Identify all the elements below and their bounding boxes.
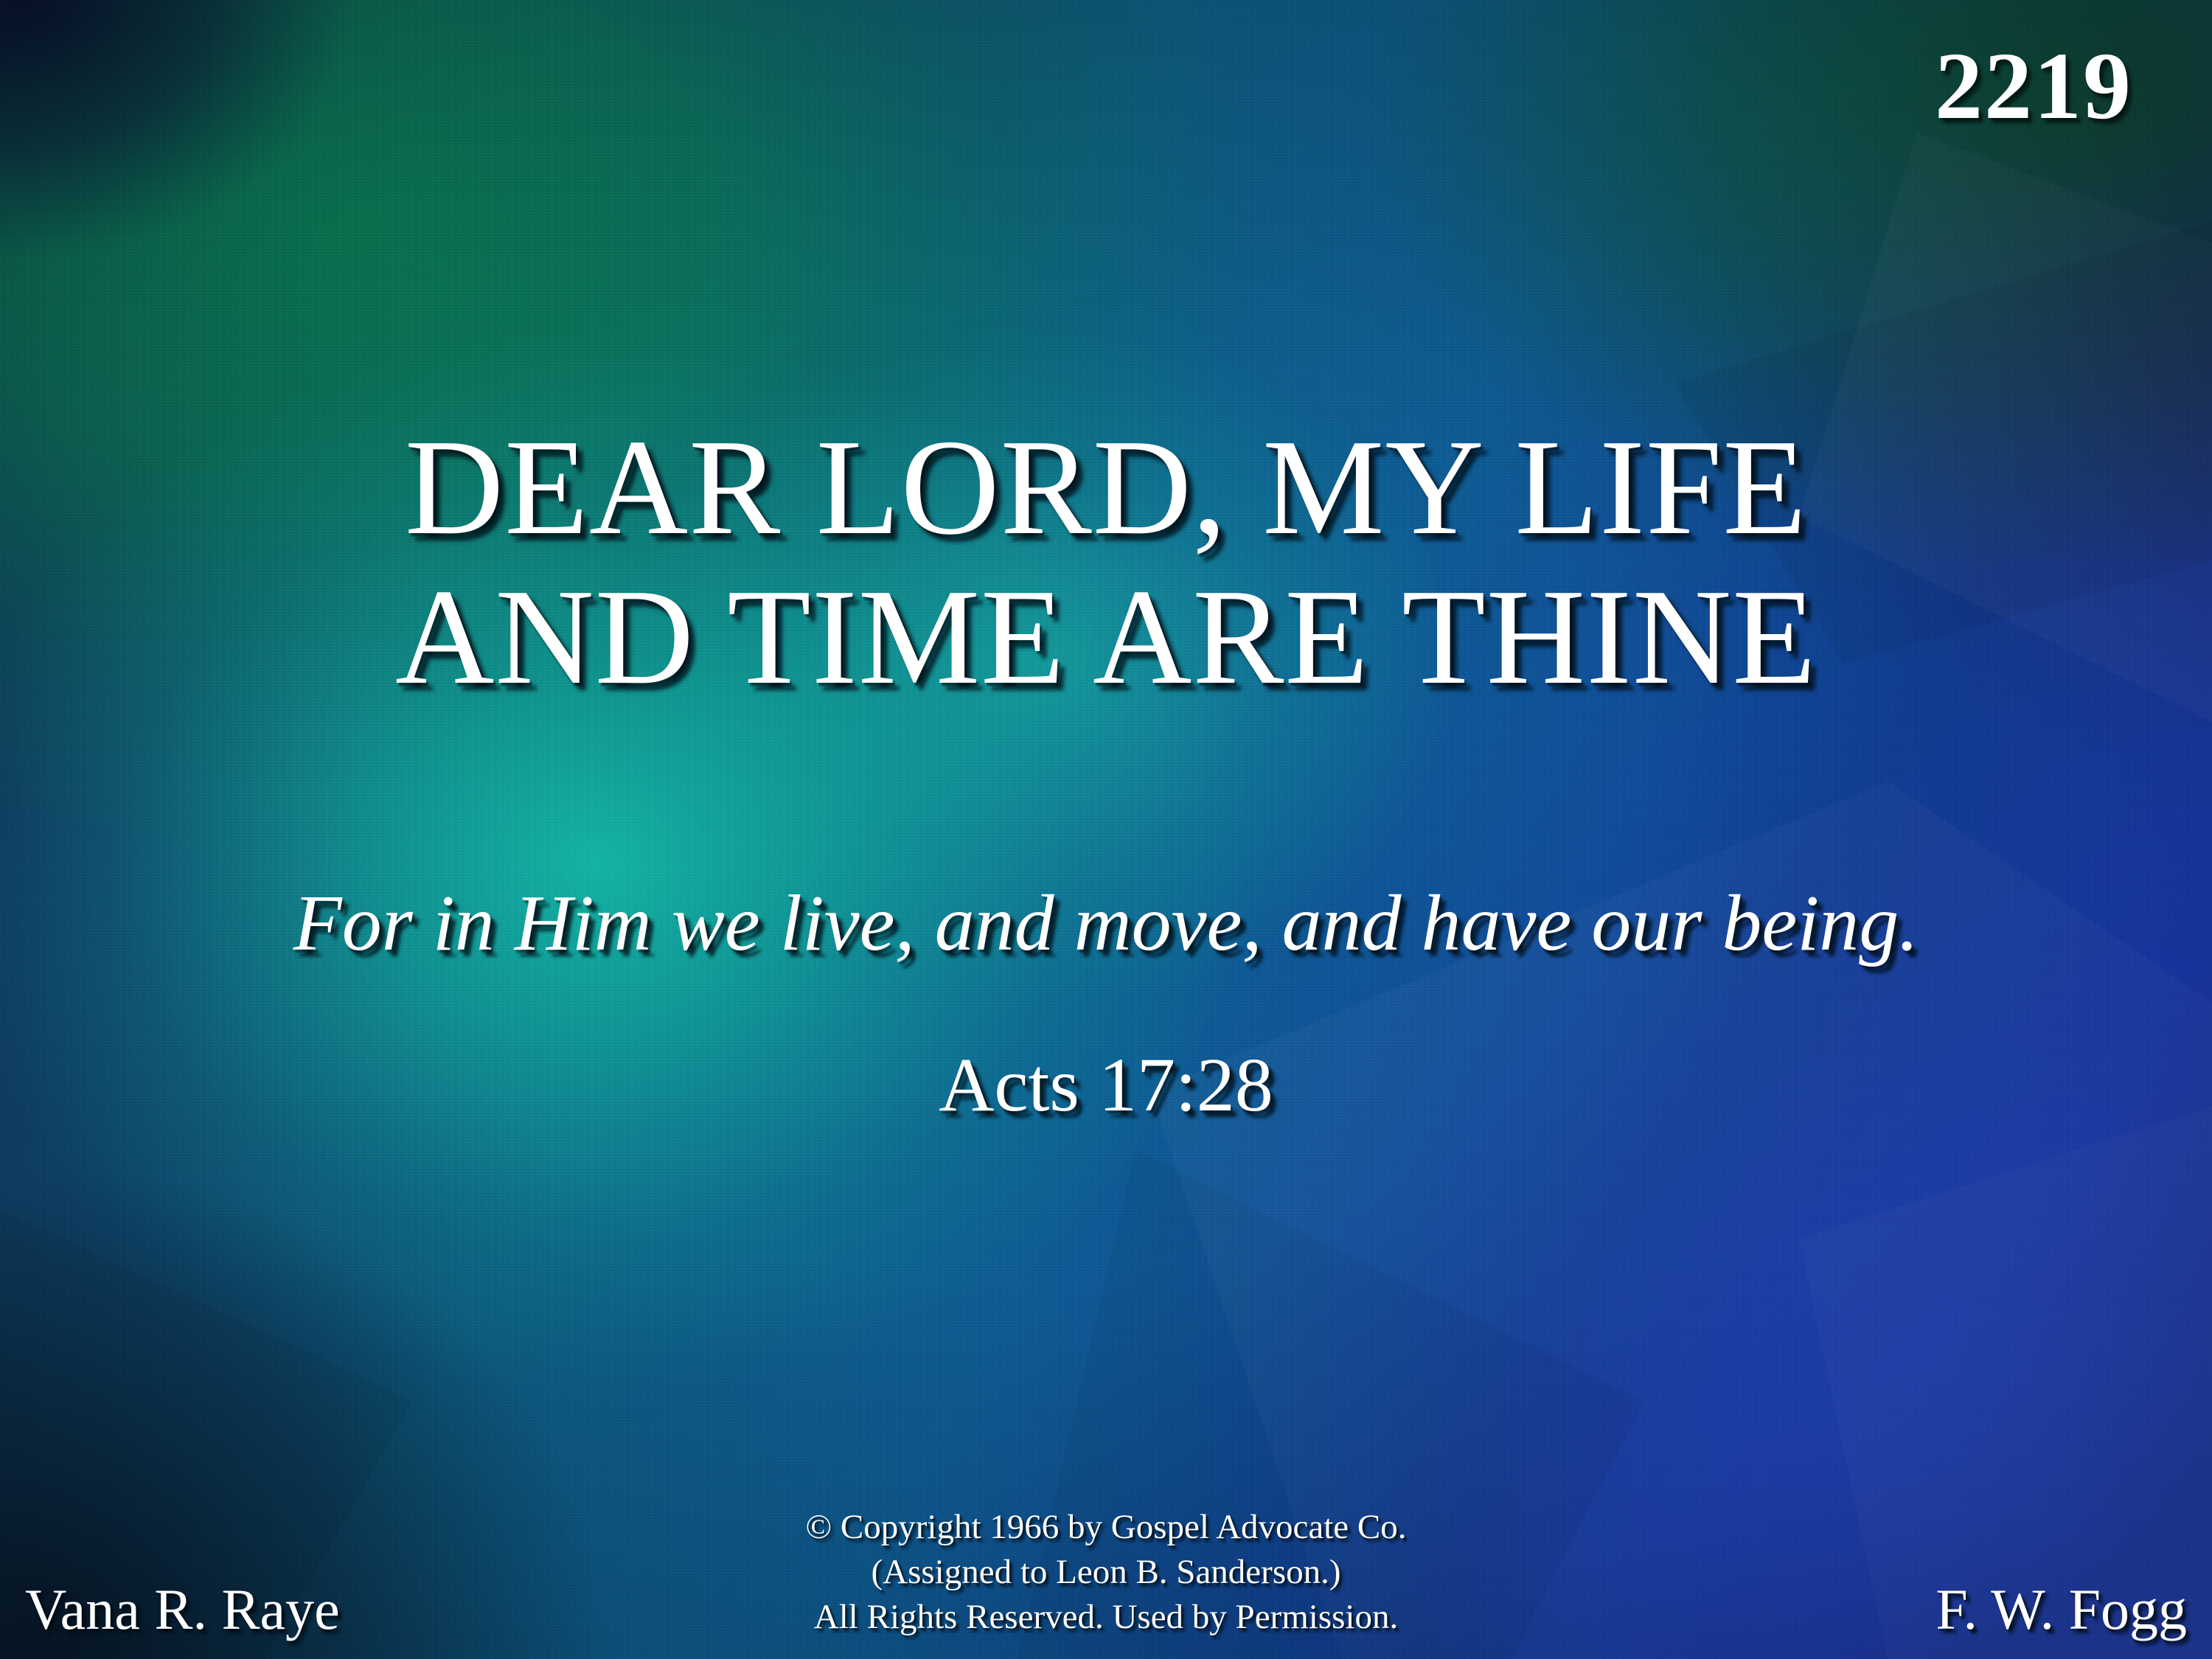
background-vignette <box>0 0 2212 1659</box>
composer-credit: F. W. Fogg <box>1935 1581 2187 1638</box>
slide-number: 2219 <box>1935 38 2132 134</box>
hymn-slide: 2219 DEAR LORD, MY LIFE AND TIME ARE THI… <box>0 0 2212 1659</box>
song-title-line-2: AND TIME ARE THINE <box>0 563 2212 712</box>
scripture-verse: For in Him we live, and move, and have o… <box>0 880 2212 968</box>
background-polygon-facets <box>0 0 2212 1659</box>
background-fibre-weave <box>0 0 2212 1659</box>
polygon-facets-svg <box>0 0 2212 1659</box>
background-green-glow <box>0 0 2212 1659</box>
song-title: DEAR LORD, MY LIFE AND TIME ARE THINE <box>0 413 2212 712</box>
background-teal-glow <box>0 0 2212 1659</box>
copyright-line-1: © Copyright 1966 by Gospel Advocate Co. <box>0 1505 2212 1550</box>
scripture-reference: Acts 17:28 <box>0 1043 2212 1127</box>
scripture-reference-text: Acts 17:28 <box>939 1043 1273 1127</box>
background-base-gradient <box>0 0 2212 1659</box>
scripture-verse-text: For in Him we live, and move, and have o… <box>293 880 1919 968</box>
background-paper-striation <box>0 0 2212 1659</box>
lyricist-credit: Vana R. Raye <box>25 1581 340 1638</box>
background-royal-blue-wash <box>0 0 2212 1659</box>
background-corner-shading <box>0 0 2212 1659</box>
song-title-line-1: DEAR LORD, MY LIFE <box>0 413 2212 563</box>
